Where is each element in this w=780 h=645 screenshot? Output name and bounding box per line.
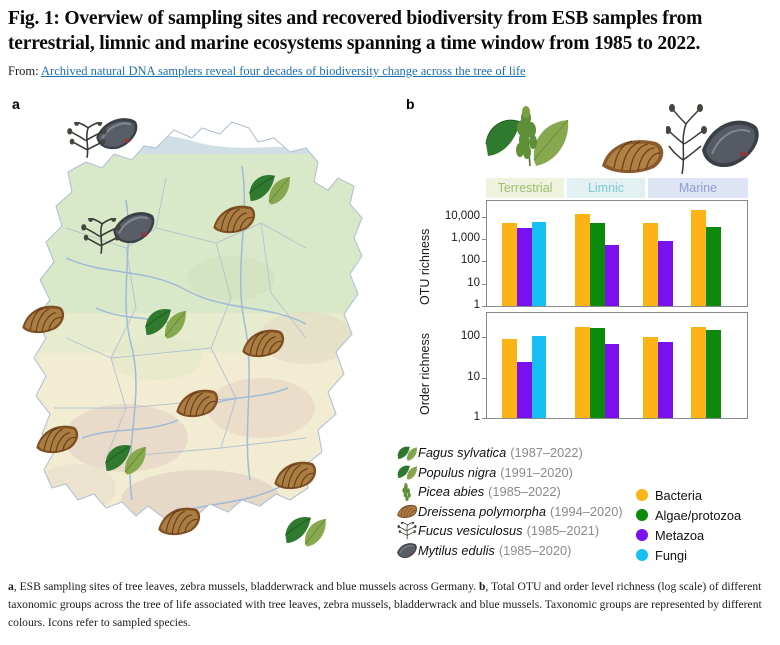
- poplar-leaf-icon: [396, 463, 418, 481]
- bar[interactable]: [590, 223, 605, 306]
- taxa-colour-dot: [636, 509, 648, 521]
- bladderwrack-icon: [396, 522, 418, 540]
- species-legend: Fagus sylvatica(1987–2022) Populus nigra…: [396, 443, 646, 560]
- bar[interactable]: [532, 222, 547, 306]
- zebra-mussel-icon: [396, 502, 418, 520]
- bar[interactable]: [643, 223, 658, 306]
- tick-label: 10: [424, 371, 480, 383]
- figure-caption: a, ESB sampling sites of tree leaves, ze…: [8, 578, 770, 632]
- taxa-legend-row: Metazoa: [636, 526, 741, 544]
- bar[interactable]: [502, 223, 517, 306]
- species-years: (1985–2022): [488, 484, 561, 499]
- tick-label: 100: [424, 254, 480, 266]
- otu-bars-layer: [487, 201, 747, 306]
- order-richness-chart[interactable]: [486, 312, 748, 419]
- bar[interactable]: [691, 210, 706, 306]
- species-legend-row: Dreissena polymorpha(1994–2020): [396, 502, 646, 522]
- taxa-legend-row: Algae/protozoa: [636, 506, 741, 524]
- ecosystem-band-marine: Marine: [648, 178, 748, 198]
- tick-mark: [482, 217, 486, 218]
- blue-mussel-icon: [396, 541, 418, 559]
- spruce-shoot-icon: [396, 483, 418, 501]
- species-years: (1985–2021): [527, 523, 600, 538]
- taxa-colour-dot: [636, 549, 648, 561]
- map-svg: [6, 108, 396, 568]
- source-line: From: Archived natural DNA samplers reve…: [8, 64, 526, 79]
- bar[interactable]: [575, 214, 590, 306]
- bar[interactable]: [643, 337, 658, 418]
- tick-mark: [482, 239, 486, 240]
- tick-label: 100: [424, 330, 480, 342]
- taxa-legend-row: Bacteria: [636, 486, 741, 504]
- beech-leaf-icon: [396, 444, 418, 462]
- limnic-photo: [598, 132, 670, 178]
- marine-photo: [666, 104, 762, 180]
- species-years: (1994–2020): [550, 504, 623, 519]
- terrestrial-photo: [476, 104, 586, 180]
- tick-mark: [482, 306, 486, 307]
- tick-mark: [482, 418, 486, 419]
- blue-mussel-icon: [396, 541, 418, 559]
- taxa-colour-dot: [636, 489, 648, 501]
- species-legend-row: Fagus sylvatica(1987–2022): [396, 443, 646, 463]
- bar[interactable]: [575, 327, 590, 418]
- ecosystem-band-limnic: Limnic: [567, 178, 645, 198]
- bar[interactable]: [706, 330, 721, 418]
- taxa-legend-row: Fungi: [636, 546, 741, 564]
- bar[interactable]: [605, 245, 620, 306]
- tick-label: 1: [424, 299, 480, 311]
- map-land: [6, 108, 396, 568]
- bar[interactable]: [502, 339, 517, 418]
- caption-a-text: , ESB sampling sites of tree leaves, zeb…: [14, 580, 479, 593]
- species-years: (1987–2022): [510, 445, 583, 460]
- source-article-link[interactable]: Archived natural DNA samplers reveal fou…: [41, 64, 526, 78]
- species-legend-row: Fucus vesiculosus(1985–2021): [396, 521, 646, 541]
- species-years: (1991–2020): [500, 465, 573, 480]
- tick-label: 10: [424, 277, 480, 289]
- species-legend-row: Picea abies(1985–2022): [396, 482, 646, 502]
- bar[interactable]: [517, 362, 532, 418]
- bar[interactable]: [590, 328, 605, 418]
- species-legend-row: Populus nigra(1991–2020): [396, 463, 646, 483]
- order-bars-layer: [487, 313, 747, 418]
- bar[interactable]: [658, 241, 673, 306]
- bar[interactable]: [517, 228, 532, 306]
- figure-title: Fig. 1: Overview of sampling sites and r…: [8, 6, 768, 56]
- bladderwrack-icon: [396, 522, 418, 540]
- taxa-label: Fungi: [655, 548, 687, 563]
- taxa-label: Bacteria: [655, 488, 702, 503]
- species-name: Dreissena polymorpha: [418, 504, 546, 519]
- zebra-mussel-icon: [396, 502, 418, 520]
- tick-mark: [482, 337, 486, 338]
- bar[interactable]: [691, 327, 706, 418]
- species-name: Populus nigra: [418, 465, 496, 480]
- taxa-colour-legend: BacteriaAlgae/protozoaMetazoaFungi: [636, 486, 741, 566]
- bar[interactable]: [532, 336, 547, 418]
- tick-label: 1,000: [424, 232, 480, 244]
- ecosystem-photos: [470, 104, 760, 178]
- tick-label: 10,000: [424, 210, 480, 222]
- bar[interactable]: [706, 227, 721, 306]
- bar[interactable]: [658, 342, 673, 418]
- taxa-label: Metazoa: [655, 528, 704, 543]
- tick-mark: [482, 378, 486, 379]
- bar[interactable]: [605, 344, 620, 418]
- species-name: Mytilus edulis: [418, 543, 495, 558]
- germany-sampling-map[interactable]: [6, 108, 396, 568]
- beech-leaf-icon: [396, 444, 418, 462]
- taxa-colour-dot: [636, 529, 648, 541]
- from-label: From:: [8, 64, 39, 78]
- species-years: (1985–2020): [499, 543, 572, 558]
- spruce-shoot-icon: [396, 483, 418, 501]
- species-name: Fucus vesiculosus: [418, 523, 523, 538]
- ecosystem-band-terrestrial: Terrestrial: [486, 178, 564, 198]
- tick-mark: [482, 284, 486, 285]
- otu-richness-chart[interactable]: [486, 200, 748, 307]
- species-name: Fagus sylvatica: [418, 445, 506, 460]
- species-name: Picea abies: [418, 484, 484, 499]
- ecosystem-band-row: Terrestrial Limnic Marine: [486, 178, 748, 198]
- tick-mark: [482, 261, 486, 262]
- species-legend-row: Mytilus edulis(1985–2020): [396, 541, 646, 561]
- panel-b-label: b: [406, 96, 415, 112]
- tick-label: 1: [424, 411, 480, 423]
- taxa-label: Algae/protozoa: [655, 508, 741, 523]
- poplar-leaf-icon: [396, 463, 418, 481]
